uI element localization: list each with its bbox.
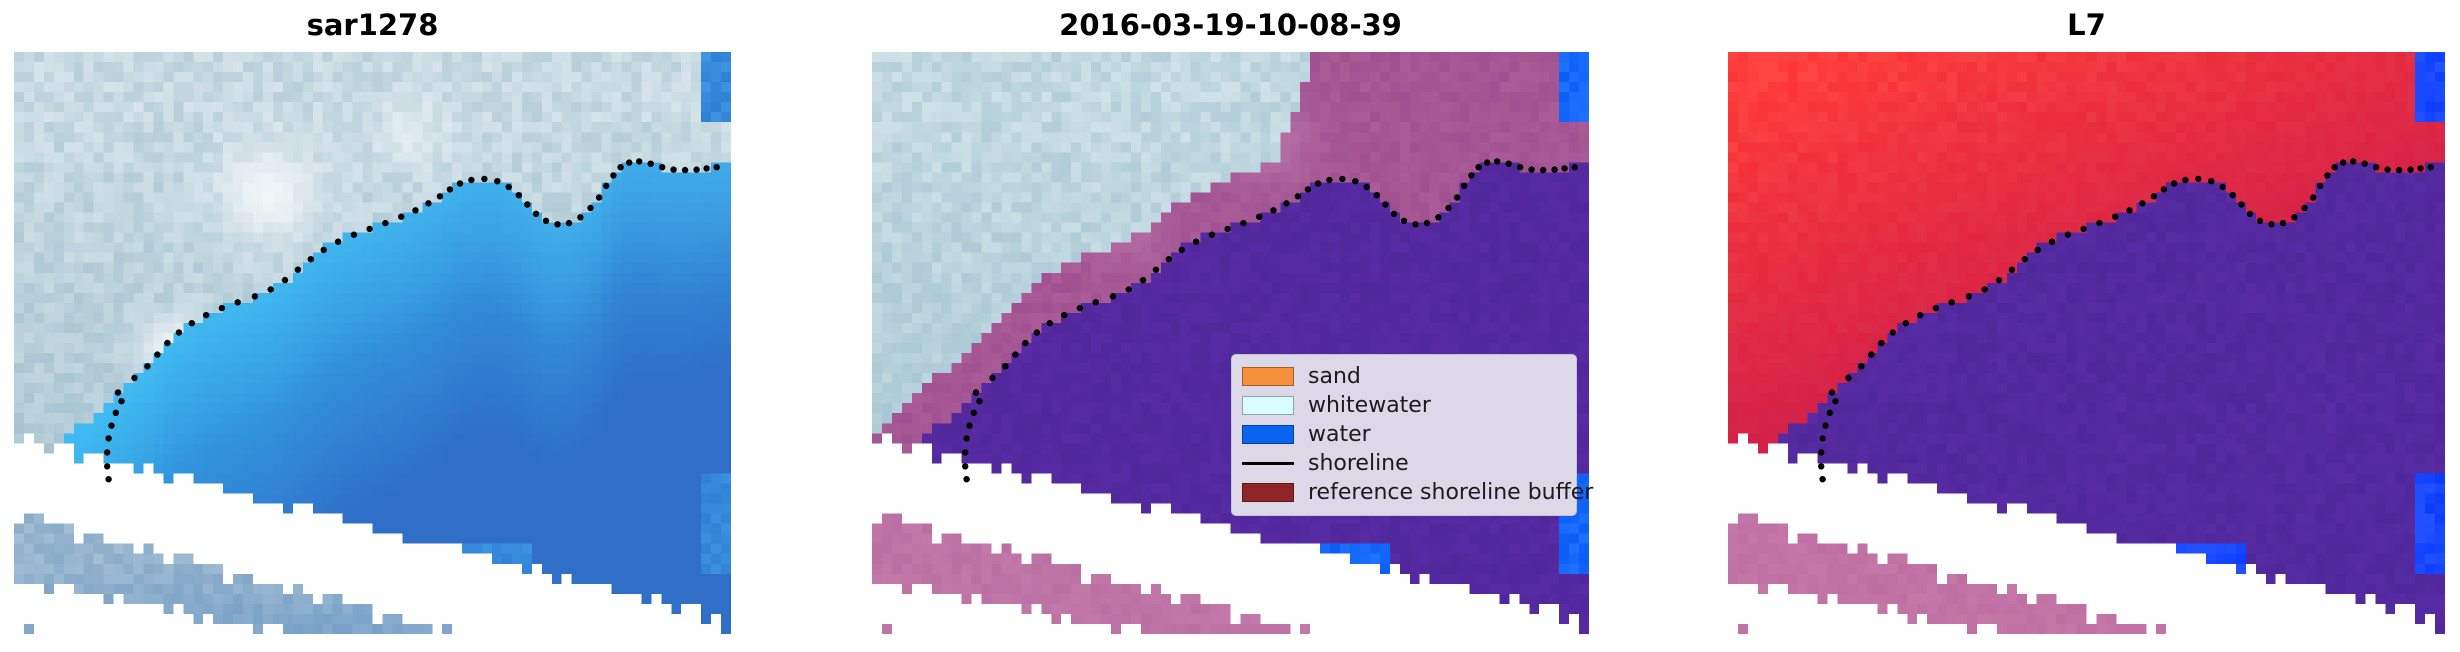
water-swatch-icon [1242, 425, 1294, 444]
legend-label-reference-buffer: reference shoreline buffer [1308, 481, 1593, 505]
legend-item-sand[interactable]: sand [1242, 362, 1566, 391]
panel-title-classified: 2016-03-19-10-08-39 [872, 6, 1589, 44]
legend[interactable]: sand whitewater water shoreline referenc… [1231, 354, 1577, 516]
panel-l7[interactable] [1728, 52, 2445, 634]
panel-title-l7: L7 [1728, 6, 2445, 44]
raster-l7 [1728, 52, 2445, 634]
whitewater-swatch-icon [1242, 396, 1294, 415]
shoreline-line-icon [1242, 454, 1294, 473]
legend-label-shoreline: shoreline [1308, 452, 1409, 476]
legend-label-whitewater: whitewater [1308, 394, 1431, 418]
legend-item-water[interactable]: water [1242, 420, 1566, 449]
legend-item-whitewater[interactable]: whitewater [1242, 391, 1566, 420]
legend-label-sand: sand [1308, 365, 1361, 389]
legend-item-shoreline[interactable]: shoreline [1242, 449, 1566, 478]
reference-buffer-swatch-icon [1242, 483, 1294, 502]
figure-root: sar1278 2016-03-19-10-08-39 L7 sand whit… [0, 0, 2460, 652]
raster-classified [872, 52, 1589, 634]
panel-sar1278[interactable] [14, 52, 731, 634]
panel-classified[interactable] [872, 52, 1589, 634]
legend-label-water: water [1308, 423, 1371, 447]
sand-swatch-icon [1242, 367, 1294, 386]
panel-title-sar: sar1278 [14, 6, 731, 44]
raster-sar1278 [14, 52, 731, 634]
legend-item-reference-buffer[interactable]: reference shoreline buffer [1242, 478, 1566, 507]
